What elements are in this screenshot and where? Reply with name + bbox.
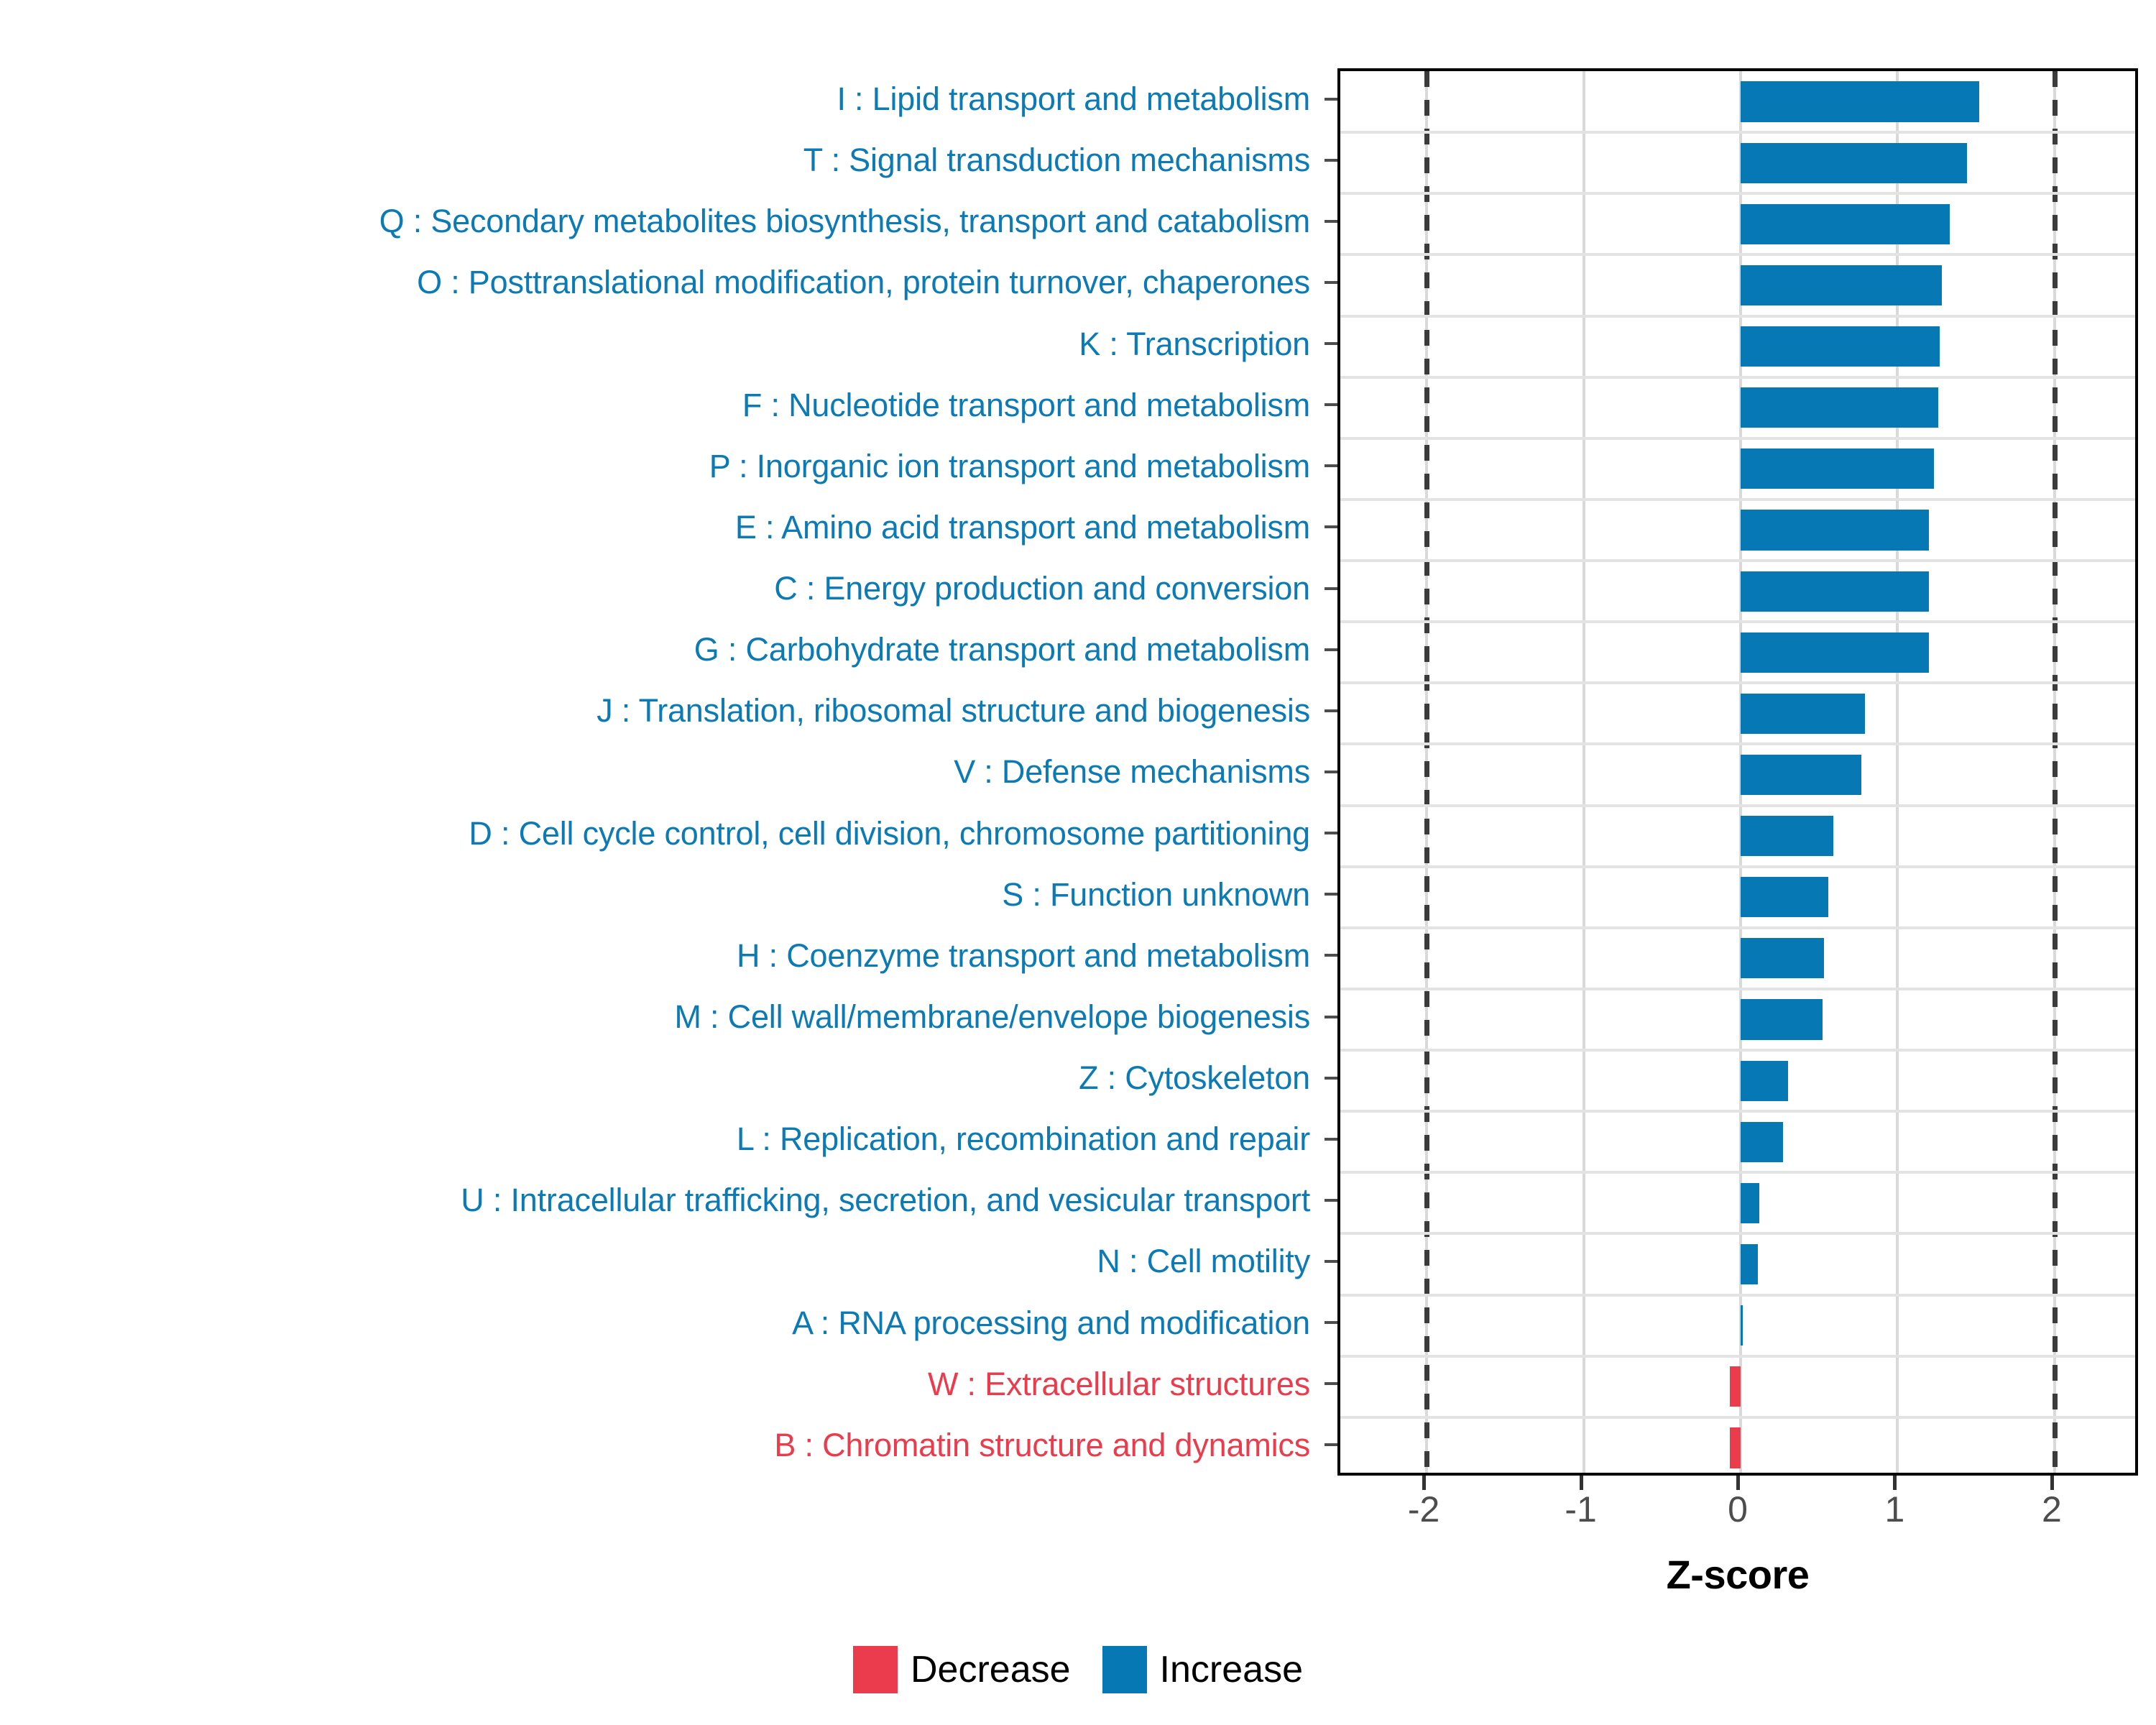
plot-panel: [1337, 68, 2138, 1476]
category-label-row: N : Cell motility: [0, 1230, 1326, 1292]
bar-row: [1340, 755, 2135, 795]
x-axis-title: Z-score: [1337, 1551, 2138, 1598]
category-label-row: K : Transcription: [0, 313, 1326, 374]
gridline-horizontal: [1340, 376, 2135, 379]
bar[interactable]: [1741, 510, 1929, 550]
bar-row: [1340, 1122, 2135, 1162]
category-label: Q : Secondary metabolites biosynthesis, …: [379, 205, 1310, 237]
gridline-horizontal: [1340, 1416, 2135, 1419]
y-axis-tick: [1325, 98, 1337, 101]
bar[interactable]: [1741, 204, 1950, 244]
legend-item-decrease[interactable]: Decrease: [853, 1646, 1071, 1693]
bar-row: [1340, 265, 2135, 305]
x-axis-tick-label: 1: [1885, 1491, 1905, 1527]
bar[interactable]: [1741, 265, 1942, 305]
gridline-horizontal: [1340, 742, 2135, 745]
y-axis-tick: [1325, 403, 1337, 406]
bar-row: [1340, 694, 2135, 734]
y-axis-tick: [1325, 893, 1337, 896]
chart-figure: I : Lipid transport and metabolismT : Si…: [0, 0, 2156, 1725]
bar-row: [1340, 877, 2135, 917]
gridline-horizontal: [1340, 253, 2135, 256]
category-label-row: J : Translation, ribosomal structure and…: [0, 680, 1326, 741]
category-label: H : Coenzyme transport and metabolism: [737, 939, 1310, 972]
bar[interactable]: [1741, 694, 1865, 734]
category-label: G : Carbohydrate transport and metabolis…: [694, 633, 1310, 666]
bar[interactable]: [1741, 999, 1823, 1039]
bar-row: [1340, 143, 2135, 183]
y-axis-tick: [1325, 464, 1337, 467]
category-label: U : Intracellular trafficking, secretion…: [461, 1184, 1310, 1216]
x-axis-tick: [1893, 1476, 1897, 1490]
category-label: O : Posttranslational modification, prot…: [417, 266, 1310, 298]
bar[interactable]: [1741, 387, 1938, 428]
legend-swatch-increase-icon: [1102, 1646, 1147, 1693]
gridline-horizontal: [1340, 1355, 2135, 1358]
bar-row: [1340, 816, 2135, 856]
gridline-horizontal: [1340, 1232, 2135, 1235]
y-axis-tick: [1325, 220, 1337, 223]
category-label: C : Energy production and conversion: [774, 572, 1310, 604]
gridline-horizontal: [1340, 1294, 2135, 1297]
category-label-row: E : Amino acid transport and metabolism: [0, 497, 1326, 558]
bar[interactable]: [1741, 143, 1967, 183]
gridline-horizontal: [1340, 437, 2135, 440]
category-label: D : Cell cycle control, cell division, c…: [469, 817, 1310, 850]
category-label-row: G : Carbohydrate transport and metabolis…: [0, 619, 1326, 680]
bar-row: [1340, 938, 2135, 978]
x-axis-tick-label: -2: [1408, 1491, 1439, 1527]
category-label-row: U : Intracellular trafficking, secretion…: [0, 1169, 1326, 1230]
y-axis-tick: [1325, 342, 1337, 345]
bar-row: [1340, 571, 2135, 612]
legend-item-increase[interactable]: Increase: [1102, 1646, 1303, 1693]
category-label-row: L : Replication, recombination and repai…: [0, 1108, 1326, 1169]
category-label-row: A : RNA processing and modification: [0, 1292, 1326, 1353]
y-axis-tick: [1325, 159, 1337, 162]
y-axis-tick: [1325, 770, 1337, 773]
bar-row: [1340, 1305, 2135, 1345]
gridline-horizontal: [1340, 804, 2135, 807]
category-label-row: T : Signal transduction mechanisms: [0, 129, 1326, 190]
category-label-row: M : Cell wall/membrane/envelope biogenes…: [0, 986, 1326, 1047]
category-label-row: C : Energy production and conversion: [0, 558, 1326, 619]
category-label: I : Lipid transport and metabolism: [837, 83, 1310, 115]
bar[interactable]: [1741, 571, 1929, 612]
category-label-row: I : Lipid transport and metabolism: [0, 68, 1326, 129]
category-label: T : Signal transduction mechanisms: [803, 144, 1310, 176]
bar[interactable]: [1741, 755, 1861, 795]
category-label-row: O : Posttranslational modification, prot…: [0, 252, 1326, 313]
y-axis-tick: [1325, 832, 1337, 834]
bar-row: [1340, 1061, 2135, 1101]
category-label: K : Transcription: [1079, 328, 1310, 360]
y-axis-tick: [1325, 525, 1337, 528]
y-axis-tick: [1325, 1138, 1337, 1141]
bar-row: [1340, 510, 2135, 550]
bar-row: [1340, 448, 2135, 489]
bar[interactable]: [1741, 1244, 1758, 1284]
legend-label-decrease: Decrease: [911, 1651, 1071, 1688]
bar[interactable]: [1741, 816, 1833, 856]
category-label: S : Function unknown: [1002, 878, 1310, 911]
category-label-row: B : Chromatin structure and dynamics: [0, 1414, 1326, 1476]
category-label: E : Amino acid transport and metabolism: [735, 511, 1310, 543]
x-axis-tick: [1422, 1476, 1426, 1490]
bar[interactable]: [1741, 1183, 1759, 1223]
chart-legend: Decrease Increase: [0, 1646, 2156, 1693]
bar[interactable]: [1730, 1366, 1741, 1407]
gridline-horizontal: [1340, 1110, 2135, 1113]
bar-row: [1340, 1366, 2135, 1407]
gridline-horizontal: [1340, 865, 2135, 868]
bar-row: [1340, 1183, 2135, 1223]
bar[interactable]: [1741, 448, 1934, 489]
gridline-horizontal: [1340, 192, 2135, 195]
bar[interactable]: [1741, 632, 1929, 673]
category-label: A : RNA processing and modification: [792, 1307, 1310, 1339]
y-axis-tick: [1325, 954, 1337, 957]
y-axis-tick: [1325, 1382, 1337, 1385]
gridline-horizontal: [1340, 620, 2135, 623]
category-label-row: V : Defense mechanisms: [0, 741, 1326, 802]
y-axis-tick: [1325, 648, 1337, 651]
bar-row: [1340, 632, 2135, 673]
x-axis-tick-label: 0: [1728, 1491, 1748, 1527]
y-axis-tick: [1325, 587, 1337, 590]
bar-row: [1340, 1427, 2135, 1468]
bar[interactable]: [1741, 1305, 1743, 1345]
legend-label-increase: Increase: [1160, 1651, 1303, 1688]
category-label: F : Nucleotide transport and metabolism: [742, 389, 1310, 421]
category-label: V : Defense mechanisms: [954, 755, 1310, 788]
category-label-row: W : Extracellular structures: [0, 1353, 1326, 1414]
gridline-horizontal: [1340, 1171, 2135, 1174]
category-label: Z : Cytoskeleton: [1079, 1062, 1310, 1094]
category-label-column: I : Lipid transport and metabolismT : Si…: [0, 68, 1326, 1476]
bar-row: [1340, 1244, 2135, 1284]
category-label-row: P : Inorganic ion transport and metaboli…: [0, 436, 1326, 497]
gridline-horizontal: [1340, 131, 2135, 134]
gridline-horizontal: [1340, 926, 2135, 929]
x-axis-tick: [1736, 1476, 1740, 1490]
x-axis-tick-label: -1: [1565, 1491, 1596, 1527]
y-axis-tick: [1325, 1260, 1337, 1263]
bar[interactable]: [1741, 938, 1824, 978]
bar[interactable]: [1730, 1427, 1741, 1468]
y-axis-tick: [1325, 709, 1337, 712]
category-label: N : Cell motility: [1097, 1245, 1310, 1277]
y-axis-tick: [1325, 1199, 1337, 1202]
bar-series: [1340, 71, 2135, 1473]
gridline-horizontal: [1340, 988, 2135, 990]
gridline-horizontal: [1340, 559, 2135, 562]
y-axis-tick: [1325, 1016, 1337, 1018]
y-axis-tick: [1325, 281, 1337, 284]
x-axis: -2-1012: [1337, 1476, 2138, 1562]
gridline-horizontal: [1340, 498, 2135, 501]
x-axis-tick: [1580, 1476, 1583, 1490]
gridline-horizontal: [1340, 681, 2135, 684]
category-label-row: S : Function unknown: [0, 864, 1326, 925]
category-label: L : Replication, recombination and repai…: [737, 1123, 1310, 1155]
category-label: M : Cell wall/membrane/envelope biogenes…: [674, 1000, 1310, 1033]
y-axis-tick: [1325, 1321, 1337, 1324]
bar-row: [1340, 81, 2135, 121]
y-axis-tick: [1325, 1443, 1337, 1446]
bar-row: [1340, 387, 2135, 428]
category-label: J : Translation, ribosomal structure and…: [596, 694, 1310, 727]
bar[interactable]: [1741, 1061, 1788, 1101]
bar[interactable]: [1741, 877, 1828, 917]
category-label-row: D : Cell cycle control, cell division, c…: [0, 803, 1326, 864]
x-axis-tick-label: 2: [2042, 1491, 2062, 1527]
category-label: B : Chromatin structure and dynamics: [774, 1429, 1310, 1461]
bar[interactable]: [1741, 81, 1979, 121]
category-label: P : Inorganic ion transport and metaboli…: [709, 450, 1310, 482]
gridline-horizontal: [1340, 1049, 2135, 1052]
bar-row: [1340, 999, 2135, 1039]
legend-swatch-decrease-icon: [853, 1646, 898, 1693]
category-label-row: Z : Cytoskeleton: [0, 1047, 1326, 1108]
bar[interactable]: [1741, 1122, 1783, 1162]
bar-row: [1340, 204, 2135, 244]
category-label-row: Q : Secondary metabolites biosynthesis, …: [0, 190, 1326, 252]
y-axis-tick: [1325, 1077, 1337, 1080]
bar-row: [1340, 326, 2135, 367]
bar[interactable]: [1741, 326, 1940, 367]
gridline-horizontal: [1340, 315, 2135, 318]
category-label-row: H : Coenzyme transport and metabolism: [0, 925, 1326, 986]
category-label: W : Extracellular structures: [928, 1368, 1310, 1400]
x-axis-tick: [2050, 1476, 2054, 1490]
category-label-row: F : Nucleotide transport and metabolism: [0, 374, 1326, 436]
